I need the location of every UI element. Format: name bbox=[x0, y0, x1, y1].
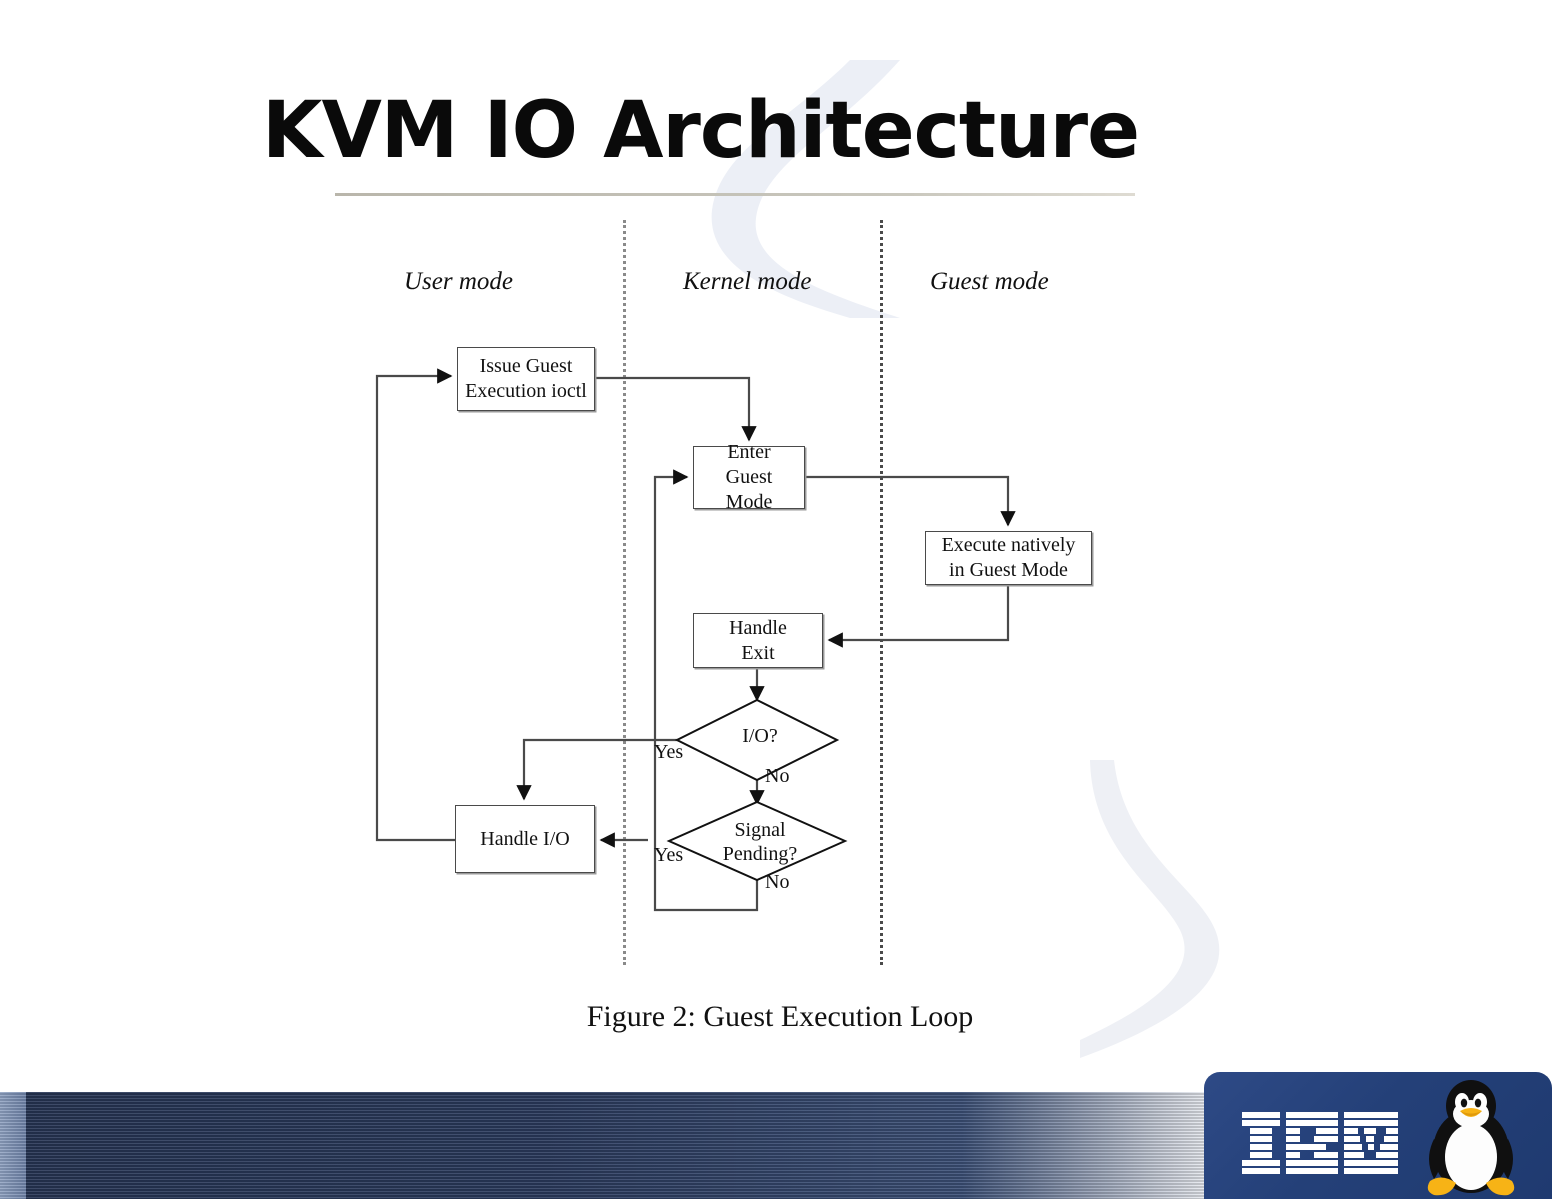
page-title: KVM IO Architecture bbox=[262, 88, 1262, 174]
title-divider bbox=[335, 193, 1135, 196]
node-enter-guest-mode[interactable]: Enter Guest Mode bbox=[693, 446, 805, 509]
edge-issue-to-enter bbox=[595, 378, 749, 440]
footer-left-accent bbox=[0, 1092, 26, 1199]
edge-label-io-yes: Yes bbox=[654, 741, 683, 764]
edge-label-io-no: No bbox=[765, 765, 789, 788]
tux-penguin-icon bbox=[1412, 1077, 1530, 1199]
decision-io bbox=[677, 700, 837, 780]
ibm-logo bbox=[1240, 1112, 1400, 1174]
edge-execute-to-exit bbox=[829, 585, 1008, 640]
node-handle-io[interactable]: Handle I/O bbox=[455, 805, 595, 873]
node-issue-guest-execution-ioctl[interactable]: Issue Guest Execution ioctl bbox=[457, 347, 595, 411]
node-execute-natively-in-guest-mode[interactable]: Execute natively in Guest Mode bbox=[925, 531, 1092, 585]
edge-label-signal-no: No bbox=[765, 871, 789, 894]
figure-caption: Figure 2: Guest Execution Loop bbox=[330, 1000, 1230, 1034]
decision-signal-pending bbox=[669, 802, 845, 880]
edge-label-signal-yes: Yes bbox=[654, 844, 683, 867]
edge-enter-to-execute bbox=[805, 477, 1008, 525]
node-handle-exit[interactable]: Handle Exit bbox=[693, 613, 823, 668]
edge-handleio-to-issue bbox=[377, 376, 455, 840]
